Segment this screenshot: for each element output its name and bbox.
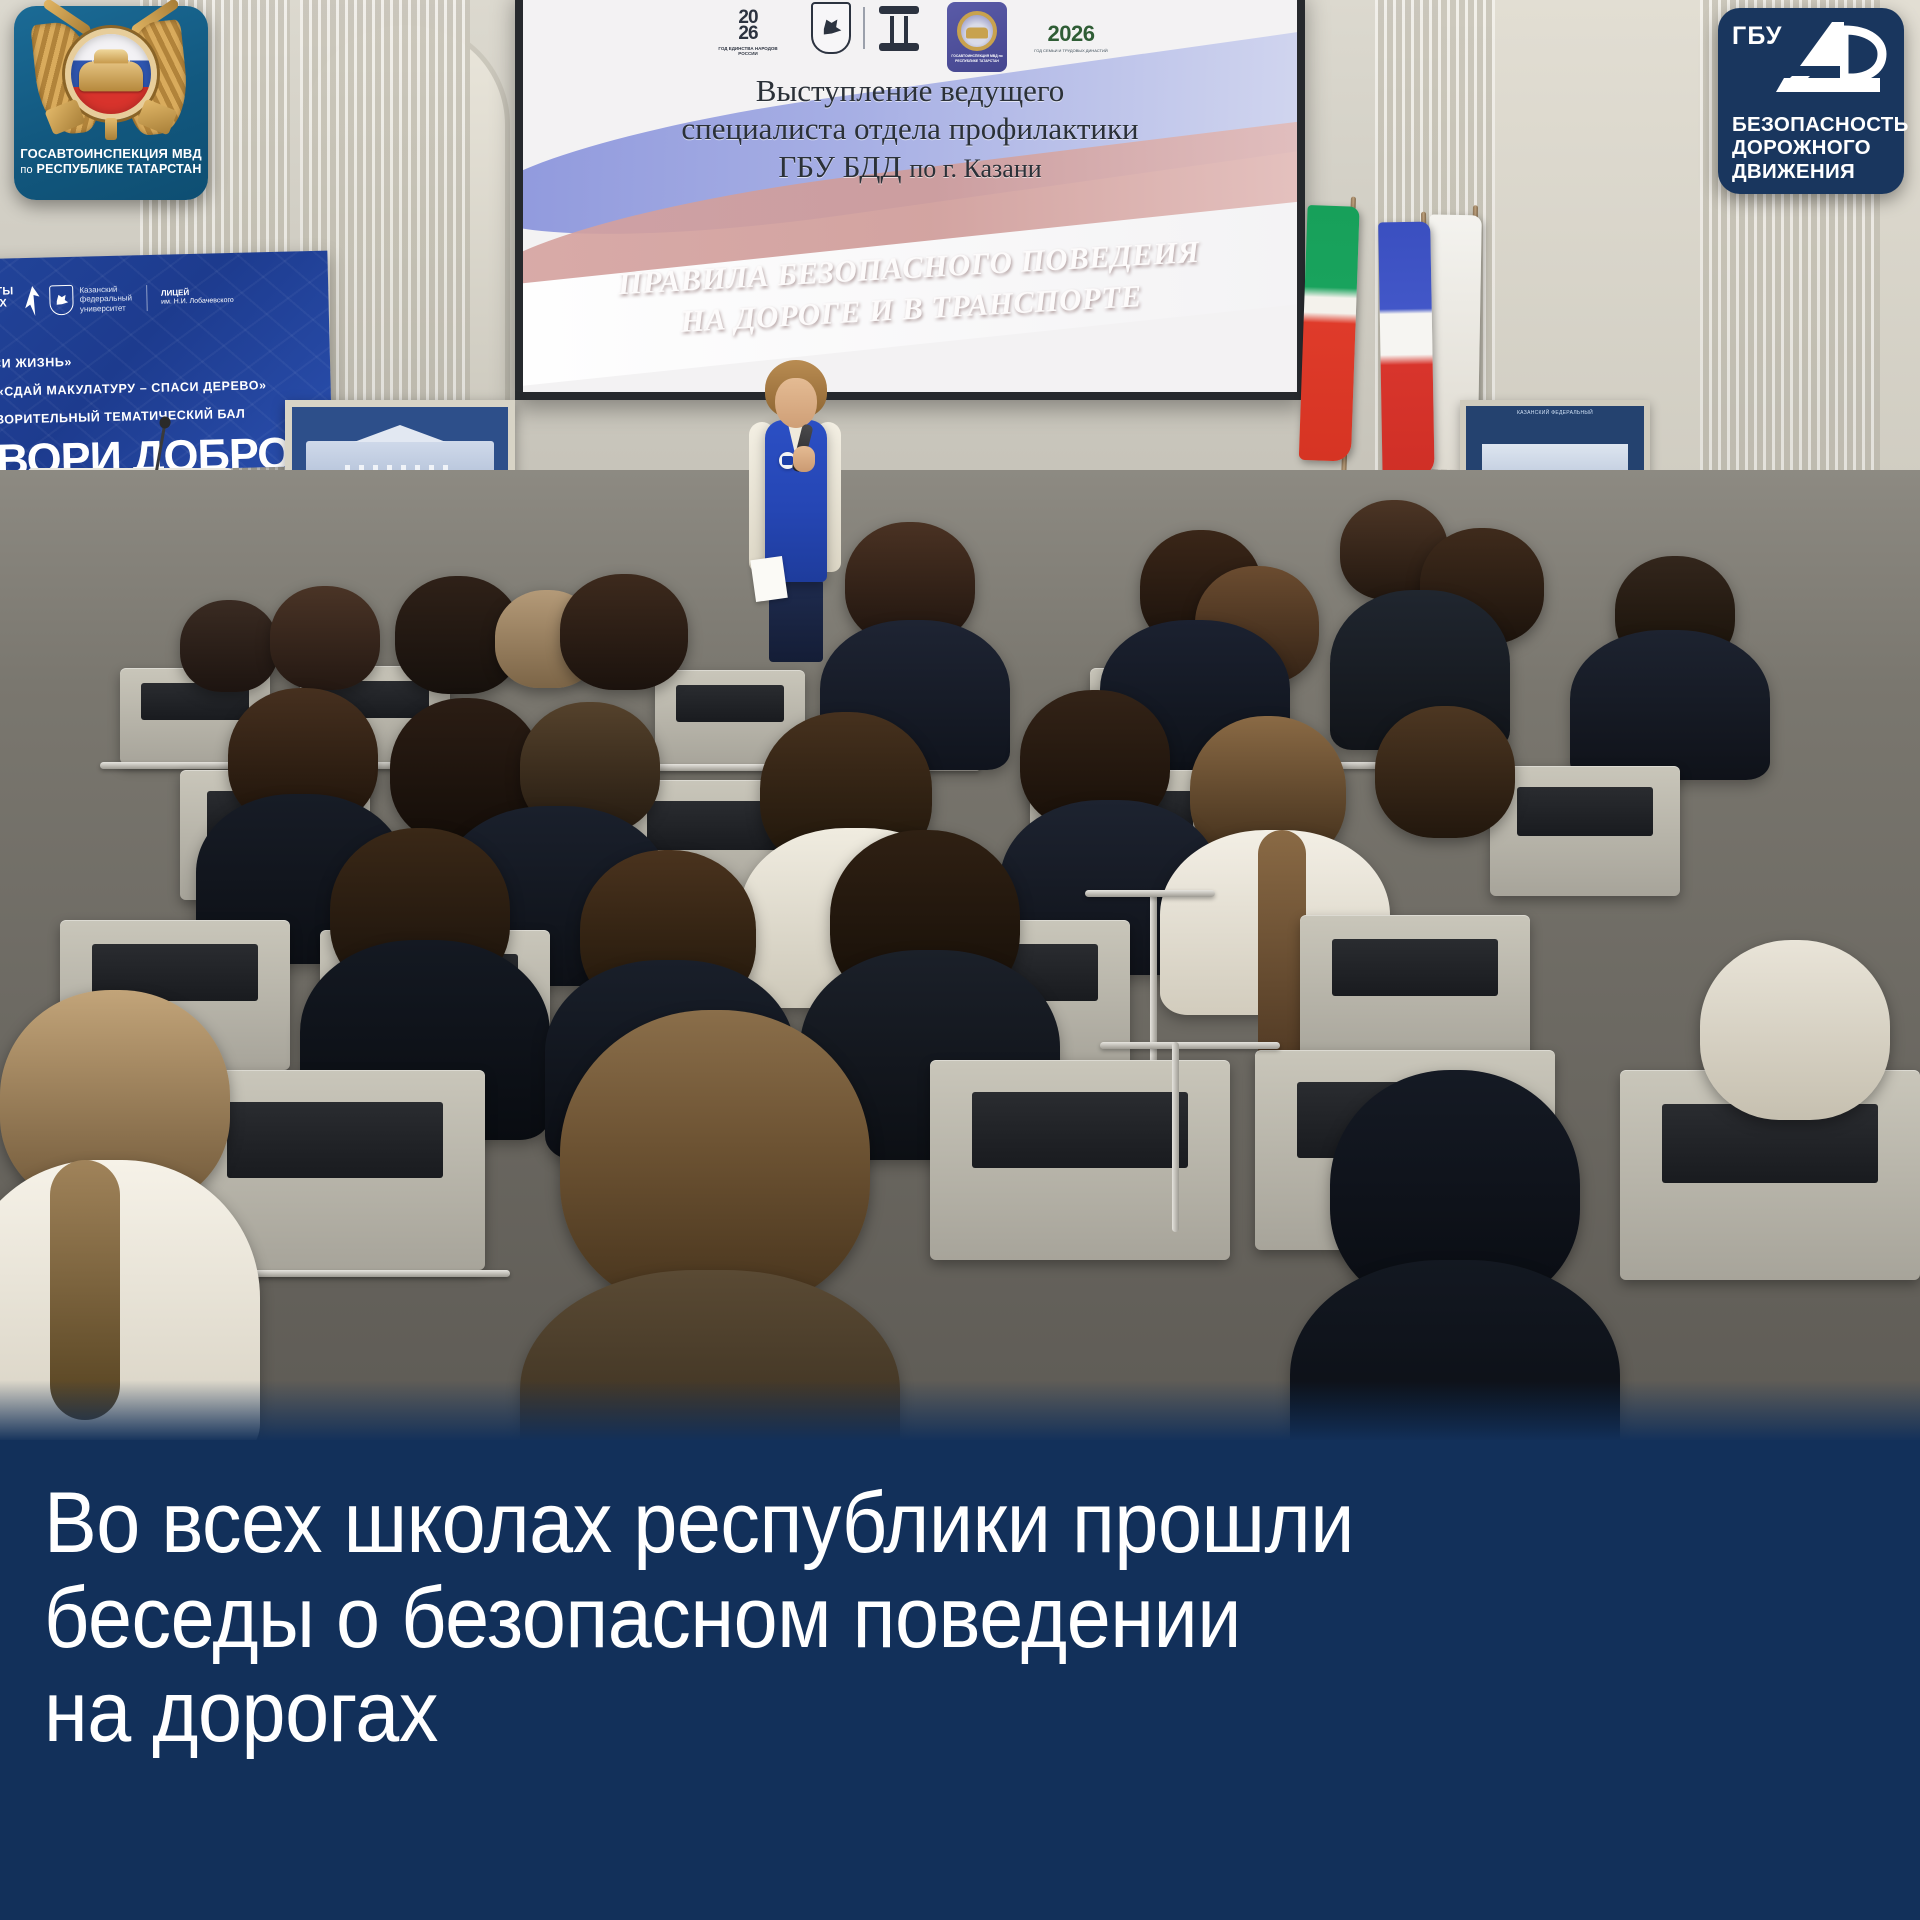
bdd-logo-line-2: ДОРОЖНОГО — [1732, 136, 1890, 160]
gibdd-logo-small: ГОСАВТОИНСПЕКЦИЯ МВД по РЕСПУБЛИКЕ ТАТАР… — [947, 2, 1007, 72]
anniversary-year: 2026 — [1048, 21, 1095, 47]
year-bottom: 26 — [738, 26, 757, 43]
gibdd-logo-line-2-main: РЕСПУБЛИКЕ ТАТАРСТАН — [37, 162, 202, 176]
audience-head — [1700, 940, 1890, 1120]
slide-title-line-1: Выступление ведущего — [600, 72, 1220, 110]
slide-title-line-3-main: ГБУ БДД — [778, 149, 901, 184]
bdd-logo-caption: БЕЗОПАСНОСТЬ ДОРОЖНОГО ДВИЖЕНИЯ — [1732, 113, 1890, 184]
grants-logo: РАНТЫ РВЫХ в деталях — [0, 286, 14, 317]
speaker-face — [775, 378, 817, 428]
banner-slogan-3: БЛАГОТВОРИТЕЛЬНЫЙ ТЕМАТИЧЕСКИЙ БАЛ — [0, 407, 246, 428]
speaker-figure — [735, 360, 855, 660]
audience-head — [1375, 706, 1515, 838]
anniversary-logo: 2026 ГОД СЕМЬИ И ТРУДОВЫХ ДИНАСТИЙ — [1033, 2, 1109, 72]
column-icon — [877, 2, 921, 54]
left-event-banner: РАНТЫ РВЫХ в деталях Казанский федеральн… — [0, 251, 333, 475]
wreath-icon — [957, 11, 997, 51]
slide-title: Выступление ведущего специалиста отдела … — [600, 72, 1220, 185]
flag-cloth — [1299, 205, 1360, 462]
seat — [930, 1060, 1230, 1260]
gibdd-logo-line-2-pre: по — [20, 164, 32, 176]
audience-head — [180, 600, 278, 692]
kfu-shield-icon — [49, 285, 74, 316]
gibdd-logo-line-1: ГОСАВТОИНСПЕКЦИЯ МВД — [20, 146, 202, 162]
framed-picture-caption: КАЗАНСКИЙ ФЕДЕРАЛЬНЫЙ — [1466, 410, 1644, 416]
audience-body — [1570, 630, 1770, 780]
kfu-shield-icon — [811, 2, 851, 54]
flag-cloth — [1378, 222, 1434, 478]
ad-monogram-icon — [1770, 20, 1888, 104]
projection-screen: 20 26 ГОД ЕДИНСТВА НАРОДОВ РОССИИ ГОСА — [515, 0, 1305, 400]
seat-rail — [1100, 1042, 1280, 1049]
banner-logo-row: РАНТЫ РВЫХ в деталях Казанский федеральн… — [0, 279, 329, 318]
arrow-icon — [23, 286, 40, 316]
seat — [1490, 766, 1680, 896]
bdd-mark-row: ГБУ — [1732, 24, 1890, 107]
kfu-logo — [811, 2, 921, 54]
russia-flag — [1378, 211, 1441, 512]
grants-tiny: в деталях — [0, 311, 14, 317]
bdd-logo-line-3: ДВИЖЕНИЯ — [1732, 160, 1890, 184]
police-car-icon — [79, 61, 143, 91]
gibdd-emblem-icon — [34, 14, 188, 142]
seat — [1300, 915, 1530, 1065]
slide-title-line-3-small: по г. Казани — [909, 154, 1041, 183]
kfu-banner-logo: Казанский федеральный университет — [49, 284, 132, 316]
banner-divider — [146, 285, 148, 311]
gbu-bdd-logo: ГБУ БЕЗОПАСНОСТЬ ДОРОЖНОГО ДВИЖЕНИЯ — [1718, 8, 1904, 194]
seat-rail — [1172, 1042, 1179, 1232]
caption-band: Во всех школах республики прошли беседы … — [0, 1440, 1920, 1920]
gibdd-small-caption: ГОСАВТОИНСПЕКЦИЯ МВД по РЕСПУБЛИКЕ ТАТАР… — [950, 54, 1004, 63]
wreath-knot — [105, 118, 117, 140]
lyceum-banner-text: ЛИЦЕЙ им. Н.И. Лобачевского — [161, 287, 234, 308]
slide-logo-row: 20 26 ГОД ЕДИНСТВА НАРОДОВ РОССИИ ГОСА — [523, 2, 1297, 74]
audience-head — [560, 1010, 870, 1310]
gibdd-logo-line-2: по РЕСПУБЛИКЕ ТАТАРСТАН — [20, 162, 202, 177]
banner-slogan-1: «СПАСИ ЖИЗНЬ» — [0, 355, 72, 372]
kfu-banner-text: Казанский федеральный университет — [79, 284, 132, 315]
social-media-news-card: 20 26 ГОД ЕДИНСТВА НАРОДОВ РОССИИ ГОСА — [0, 0, 1920, 1920]
gibdd-tatarstan-logo: ГОСАВТОИНСПЕКЦИЯ МВД по РЕСПУБЛИКЕ ТАТАР… — [14, 6, 208, 200]
audience-head — [270, 586, 380, 690]
caption-headline: Во всех школах республики прошли беседы … — [44, 1476, 1626, 1760]
gibdd-logo-caption: ГОСАВТОИНСПЕКЦИЯ МВД по РЕСПУБЛИКЕ ТАТАР… — [20, 146, 202, 177]
anniversary-caption: ГОД СЕМЬИ И ТРУДОВЫХ ДИНАСТИЙ — [1034, 49, 1107, 54]
seat-rail — [1085, 890, 1215, 897]
audience-area — [0, 470, 1920, 1440]
logo-divider — [863, 7, 865, 49]
banner-slogan-2: «СДАЙ МАКУЛАТУРУ – СПАСИ ДЕРЕВО» — [0, 378, 267, 399]
slide-surface: 20 26 ГОД ЕДИНСТВА НАРОДОВ РОССИИ ГОСА — [523, 0, 1297, 392]
speaker-hand — [793, 446, 815, 472]
year-caption: ГОД ЕДИНСТВА НАРОДОВ РОССИИ — [711, 46, 785, 56]
bdd-logo-line-1: БЕЗОПАСНОСТЬ — [1732, 113, 1890, 137]
slide-title-line-3: ГБУ БДД по г. Казани — [600, 148, 1220, 186]
year-of-unity-logo: 20 26 ГОД ЕДИНСТВА НАРОДОВ РОССИИ — [711, 2, 785, 64]
photo-fade-edge — [0, 1380, 1920, 1440]
tatarstan-flag — [1298, 195, 1366, 497]
lyceum-line-2: им. Н.И. Лобачевского — [161, 297, 234, 308]
kfu-line-3: университет — [80, 303, 133, 314]
audience-head — [560, 574, 688, 690]
event-photo: 20 26 ГОД ЕДИНСТВА НАРОДОВ РОССИИ ГОСА — [0, 0, 1920, 1440]
slide-title-line-2: специалиста отдела профилактики — [600, 110, 1220, 148]
speaker-papers — [750, 556, 788, 602]
grants-line-2: РВЫХ — [0, 297, 7, 310]
